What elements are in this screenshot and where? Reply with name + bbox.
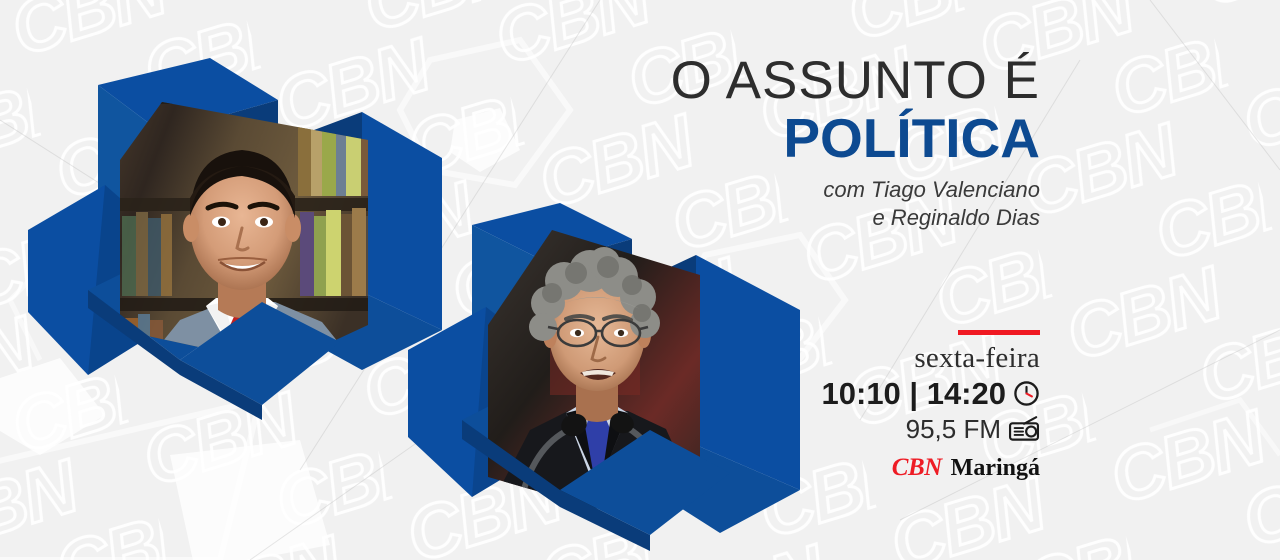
broadcast-times: 10:10 | 14:20 [822,378,1006,409]
host-name-1: com Tiago Valenciano [440,176,1040,204]
host-photo-left-composition [10,30,460,420]
broadcast-times-row: 10:10 | 14:20 [740,378,1040,409]
broadcast-day: sexta-feira [740,344,1040,373]
hosts-subtitle: com Tiago Valenciano e Reginaldo Dias [440,176,1040,231]
radio-program-banner: CBN CBN [0,0,1280,560]
schedule-block: sexta-feira 10:10 | 14:20 95,5 FM [740,330,1040,482]
host-name-2: e Reginaldo Dias [440,204,1040,232]
city-wordmark: Maringá [951,455,1040,482]
station-logo: CBN Maringá [740,454,1040,482]
radio-icon [1008,415,1040,442]
clock-icon [1013,380,1040,407]
red-divider [958,330,1040,335]
frequency-text: 95,5 FM [906,416,1001,442]
program-title-block: O ASSUNTO É POLÍTICA com Tiago Valencian… [440,54,1040,231]
program-title-line2: POLÍTICA [440,109,1040,168]
host-photo-left [10,30,460,430]
frequency-row: 95,5 FM [740,415,1040,442]
program-title-line1: O ASSUNTO É [440,54,1040,107]
cbn-wordmark: CBN [892,454,942,482]
